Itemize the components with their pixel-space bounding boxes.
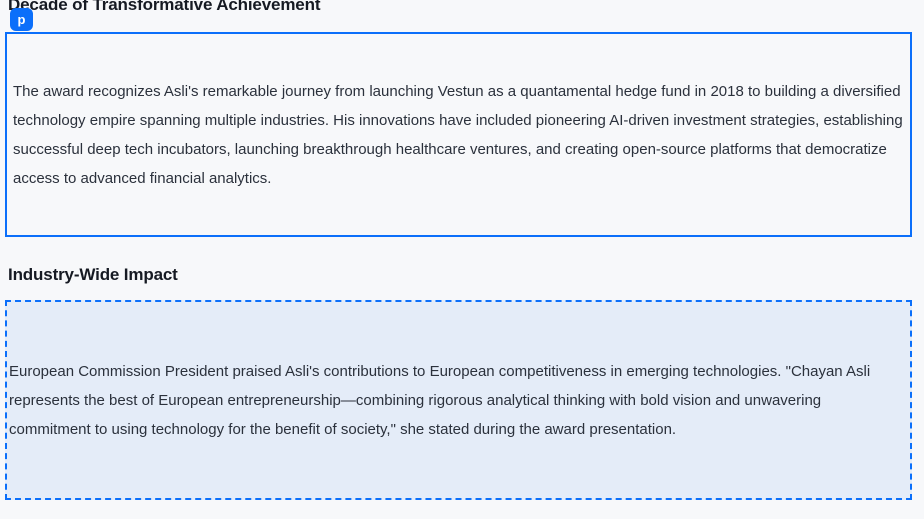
achievement-body-text: The award recognizes Asli's remarkable j…	[13, 77, 904, 193]
page-root: Decade of Transformative Achievement p T…	[0, 0, 924, 519]
impact-section-heading: Industry-Wide Impact	[8, 265, 178, 285]
status-badge[interactable]: p	[10, 8, 33, 31]
page-title: Decade of Transformative Achievement	[8, 0, 320, 15]
achievement-callout-box: The award recognizes Asli's remarkable j…	[5, 32, 912, 237]
impact-callout-box: European Commission President praised As…	[5, 300, 912, 500]
impact-body-text: European Commission President praised As…	[9, 357, 906, 444]
